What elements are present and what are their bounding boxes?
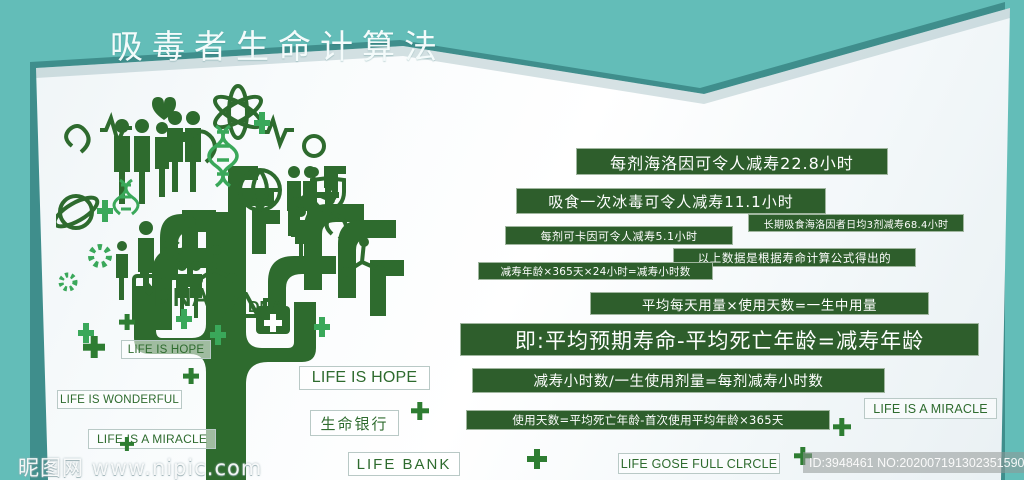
statement-days-formula: 使用天数=平均死亡年龄-首次使用平均年龄×365天 — [466, 410, 830, 430]
statement-hours-formula: 减寿年龄×365天×24小时=减寿小时数 — [478, 262, 713, 280]
tree-dna-label-left: DNA — [154, 282, 211, 312]
statement-core-formula: 即:平均预期寿命-平均死亡年龄=减寿年龄 — [460, 323, 979, 356]
statement-lifetime-amount: 平均每天用量×使用天数=一生中用量 — [590, 292, 929, 315]
poster-canvas: 吸毒者生命计算法 — [0, 0, 1024, 480]
statement-meth-once: 吸食一次冰毒可令人减寿11.1小时 — [516, 188, 826, 214]
plus-icon-6 — [833, 418, 851, 436]
watermark-id-no: ID:3948461 NO:20200719130235159081 — [803, 452, 1024, 473]
statement-per-dose-hours: 减寿小时数/一生使用剂量=每剂减寿小时数 — [472, 368, 885, 393]
statement-long-term: 长期吸食海洛因者日均3剂减寿68.4小时 — [748, 214, 964, 232]
tree-dna-label-right: DNA — [248, 299, 283, 316]
watermark-site: 昵图网 www.nipic.com — [18, 452, 262, 480]
slogan-life-is-hope-large: LIFE IS HOPE — [299, 366, 430, 390]
slogan-life-is-wonderful: LIFE IS WONDERFUL — [57, 390, 182, 409]
slogan-life-is-hope-small: LIFE IS HOPE — [121, 340, 211, 359]
slogan-life-is-a-miracle-right: LIFE IS A MIRACLE — [864, 398, 997, 419]
page-title: 吸毒者生命计算法 — [110, 20, 446, 68]
plus-icon-8 — [120, 437, 134, 451]
plus-icon-3 — [119, 314, 135, 330]
slogan-life-bank-chinese: 生命银行 — [310, 410, 399, 436]
plus-icon-4 — [411, 402, 429, 420]
slogan-life-gose-full-circle: LIFE GOSE FULL CLRCLE — [618, 453, 780, 474]
slogan-life-is-a-miracle-left: LIFE IS A MIRACLE — [88, 429, 216, 449]
statement-heroin-dose: 每剂海洛因可令人减寿22.8小时 — [576, 148, 888, 175]
plus-icon-2 — [183, 368, 199, 384]
plus-icon-1 — [83, 336, 105, 358]
statement-cocaine-dose: 每剂可卡因可令人减寿5.1小时 — [505, 226, 733, 245]
plus-icon-5 — [527, 449, 547, 469]
slogan-life-bank-english: LIFE BANK — [348, 452, 460, 476]
